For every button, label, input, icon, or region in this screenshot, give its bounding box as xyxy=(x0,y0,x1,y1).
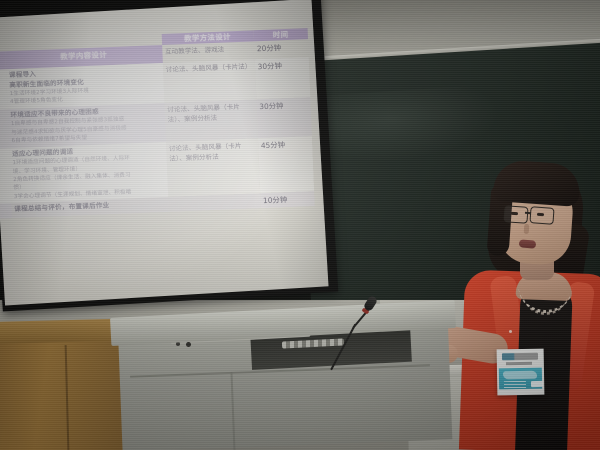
cardigan-button xyxy=(509,330,512,333)
projection-screen: 教学方法设计 时间 序号 教学内容设计 互动教学法、游戏法 20分钟 课程导入 … xyxy=(0,0,329,305)
product-box-weight-badge xyxy=(531,381,543,387)
podium-jack-large xyxy=(186,342,191,347)
presenter-nose xyxy=(524,224,530,234)
product-box-text-lines xyxy=(504,381,526,389)
product-box-subtitle xyxy=(506,362,532,365)
podium-jack-small xyxy=(176,342,180,346)
presenter-mouth xyxy=(519,239,537,248)
product-box-script xyxy=(503,371,537,380)
screen-vignette xyxy=(0,0,329,305)
glasses-bridge xyxy=(525,212,531,214)
classroom-photo: 教学方法设计 时间 序号 教学内容设计 互动教学法、游戏法 20分钟 课程导入 … xyxy=(0,0,600,450)
presenter-eye-left xyxy=(511,212,518,215)
chalkboard-smudge xyxy=(318,84,502,165)
presenter-eye-right xyxy=(537,213,544,216)
product-box-logo xyxy=(502,353,538,361)
